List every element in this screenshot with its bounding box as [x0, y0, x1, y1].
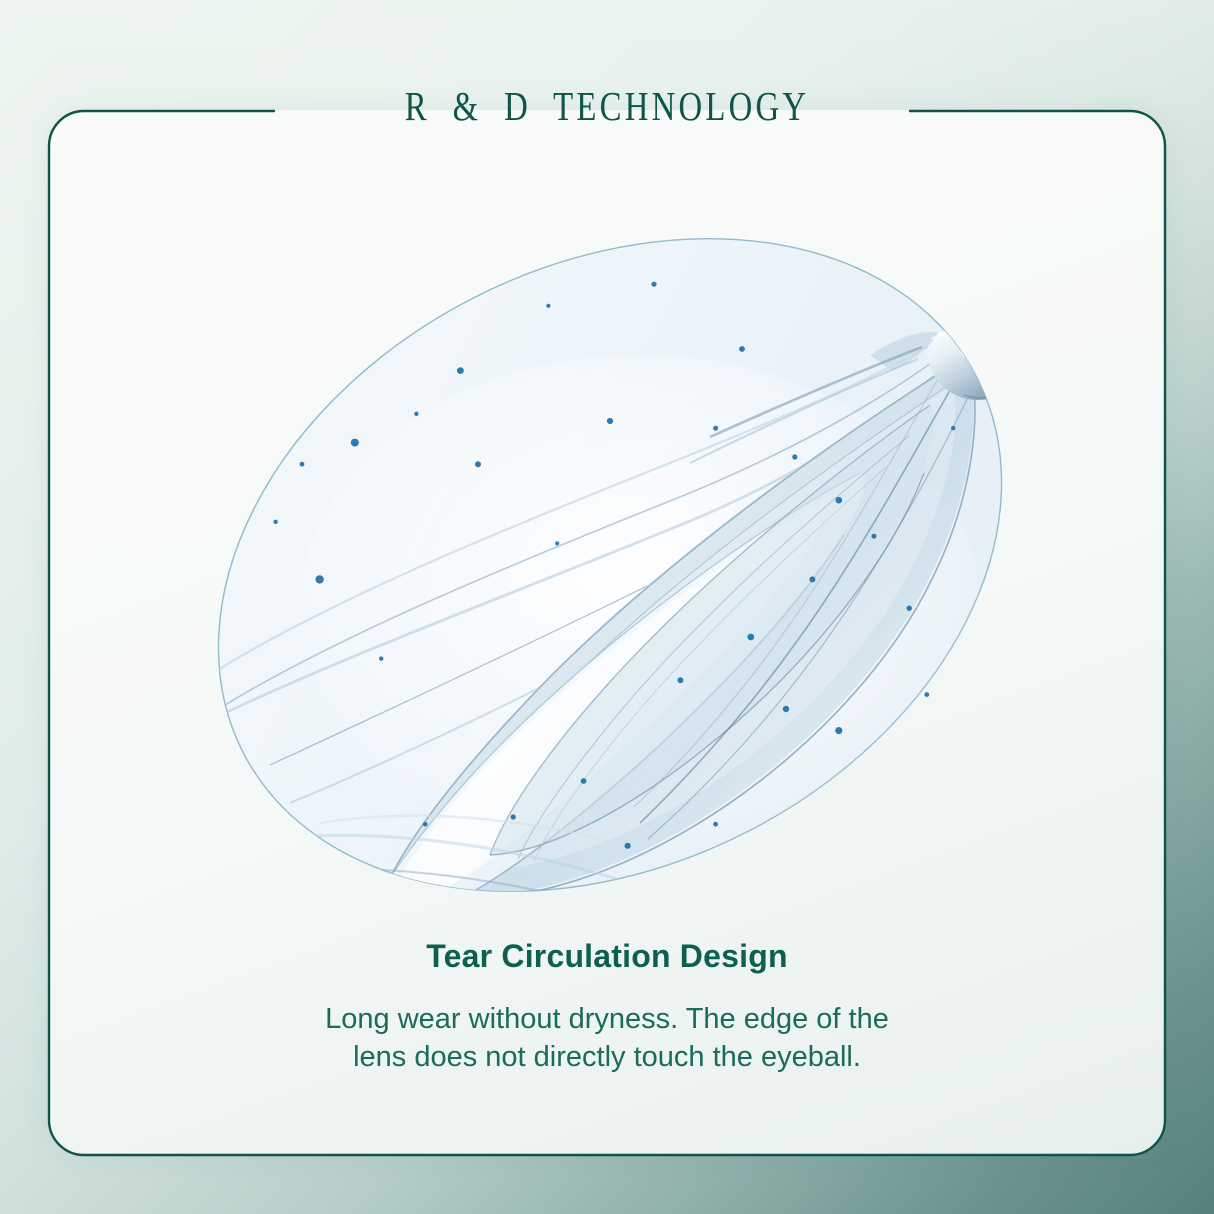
bubble-dot: [739, 346, 745, 352]
lens-scene-svg: [170, 205, 1050, 925]
bubble-dot: [625, 843, 631, 849]
bubble-dot: [951, 426, 955, 430]
bubble-dot: [300, 462, 305, 467]
bubble-dot: [457, 367, 464, 374]
bubble-dot: [414, 412, 418, 416]
bubble-dot: [836, 497, 843, 504]
bubble-dot: [907, 606, 912, 611]
bubble-dot: [351, 439, 359, 447]
bubble-dot: [315, 575, 323, 583]
bubble-dot: [581, 778, 587, 784]
feature-description-line-1: Long wear without dryness. The edge of t…: [0, 1000, 1214, 1038]
bubble-dot: [511, 814, 516, 819]
bubble-dot: [475, 461, 481, 467]
feature-description-line-2: lens does not directly touch the eyeball…: [0, 1038, 1214, 1076]
bubble-dot: [747, 634, 754, 641]
bubble-dot: [555, 541, 559, 545]
bubble-dot: [713, 426, 718, 431]
bubble-dot: [809, 576, 815, 582]
feature-description: Long wear without dryness. The edge of t…: [0, 1000, 1214, 1076]
bubble-dot: [677, 677, 683, 683]
bubble-dot: [783, 706, 789, 712]
feature-headline: Tear Circulation Design: [0, 938, 1214, 975]
bubble-dot: [379, 656, 383, 660]
bubble-dot: [607, 418, 613, 424]
poster-canvas: R & D TECHNOLOGY: [0, 0, 1214, 1214]
bubble-dot: [546, 304, 550, 308]
bubble-dot: [835, 727, 842, 734]
bubble-dot: [651, 282, 656, 287]
bubble-dot: [273, 520, 277, 524]
hero-illustration: [170, 205, 1050, 925]
bubble-dot: [713, 822, 718, 827]
bubble-dot: [872, 534, 877, 539]
bubble-dot: [423, 822, 428, 827]
bubble-dot: [924, 692, 929, 697]
bubble-dot: [792, 454, 797, 459]
page-title: R & D TECHNOLOGY: [121, 82, 1092, 130]
